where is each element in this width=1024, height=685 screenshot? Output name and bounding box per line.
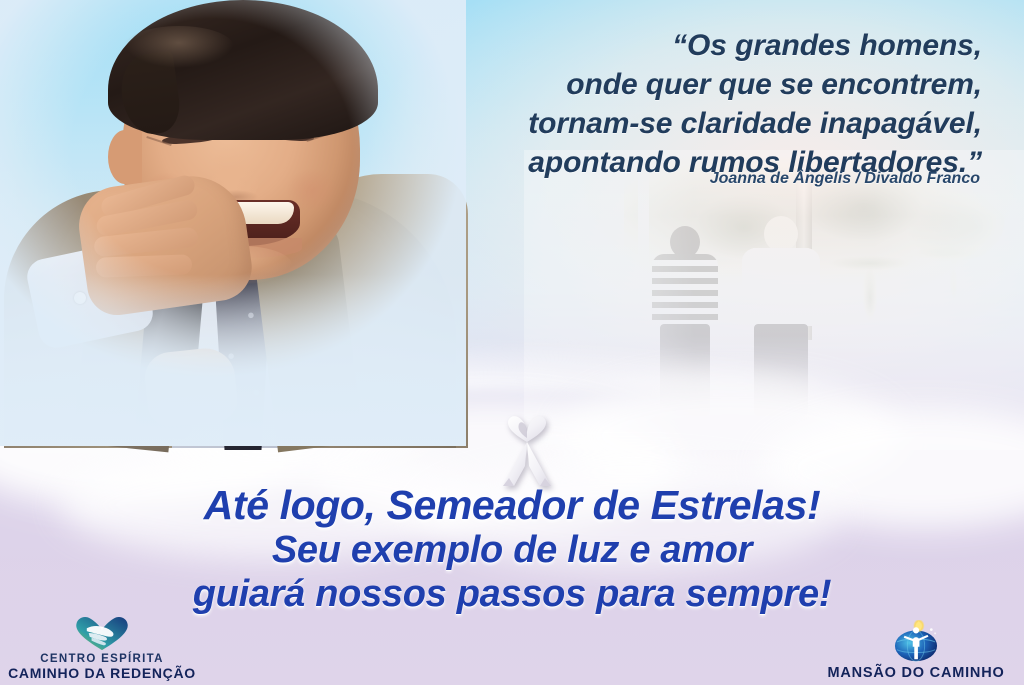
logo-mansao-do-caminho: MANSÃO DO CAMINHO [816, 620, 1016, 681]
portrait-hair-highlight [124, 26, 234, 68]
quote-line-1: “Os grandes homens, [362, 26, 982, 65]
headline-line-2: Seu exemplo de luz e amor [0, 530, 1024, 570]
mourning-ribbon-icon [483, 412, 571, 490]
portrait-hand-gripping-mic [142, 345, 239, 428]
globe-figure-logo-icon [889, 620, 943, 664]
quote-line-2: onde quer que se encontrem, [362, 65, 982, 104]
portrait-ear [108, 130, 142, 184]
heart-hand-logo-icon [71, 614, 133, 652]
portrait-hair [108, 0, 378, 140]
memorial-poster: “Os grandes homens, onde quer que se enc… [0, 0, 1024, 685]
portrait-cuff-button [74, 292, 86, 304]
quote-author: Joanna de Ângelis / Divaldo Franco [360, 170, 980, 188]
logo-centro-espirita: CENTRO ESPÍRITA CAMINHO DA REDENÇÃO [2, 614, 202, 681]
logo-left-line-2: CAMINHO DA REDENÇÃO [2, 665, 202, 681]
portrait-finger [96, 254, 193, 277]
headline-line-1: Até logo, Semeador de Estrelas! [0, 484, 1024, 527]
quote-line-3: tornam-se claridade inapagável, [362, 104, 982, 143]
logo-left-line-1: CENTRO ESPÍRITA [2, 653, 202, 665]
headline: Até logo, Semeador de Estrelas! Seu exem… [0, 484, 1024, 614]
logo-right-line-1: MANSÃO DO CAMINHO [816, 665, 1016, 681]
quote-text: “Os grandes homens, onde quer que se enc… [362, 26, 982, 182]
headline-line-3: guiará nossos passos para sempre! [0, 574, 1024, 614]
